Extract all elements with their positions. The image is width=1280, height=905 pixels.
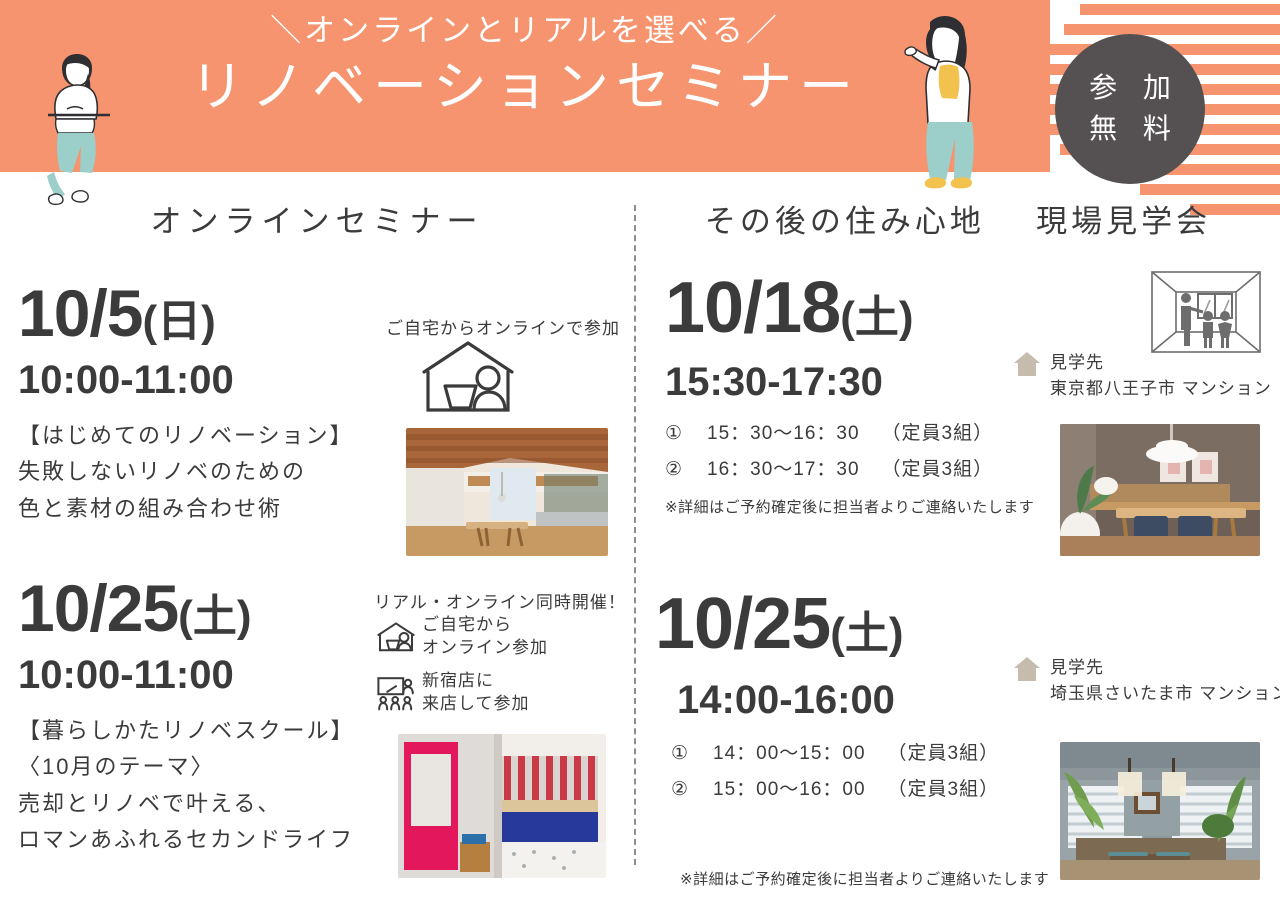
online-entry-2-photo bbox=[398, 734, 606, 878]
tour-entry-1-slot-1: ①15：30〜16：30（定員3組） bbox=[665, 416, 1034, 452]
house-icon bbox=[1012, 350, 1042, 378]
mode-store-line1: 新宿店に bbox=[422, 670, 530, 693]
venue-label: 見学先 bbox=[1050, 655, 1280, 681]
online-entry-1-topic-line2: 色と素材の組み合わせ術 bbox=[18, 491, 354, 527]
venue-value: 東京都八王子市 マンション bbox=[1050, 376, 1272, 402]
house-icon bbox=[1012, 655, 1042, 683]
online-entry-2-topic-line2: 売却とリノベで叶える、 bbox=[18, 786, 354, 822]
tour-entry-1-note: ※詳細はご予約確定後に担当者よりご連絡いたします bbox=[665, 496, 1034, 517]
slot-capacity: （定員3組） bbox=[882, 423, 994, 444]
tour-entry-2-slot-1: ①14：00〜15：00（定員3組） bbox=[671, 736, 999, 772]
tour-entry-2-venue: 見学先 埼玉県さいたま市 マンション bbox=[1012, 655, 1280, 706]
mode-online-line1: ご自宅から bbox=[422, 614, 548, 637]
online-entry-1-topic-title: 【はじめてのリノベーション】 bbox=[18, 418, 354, 454]
store-visit-icon bbox=[376, 673, 416, 713]
slot-capacity: （定員3組） bbox=[888, 779, 1000, 800]
free-participation-badge: 参 加 無 料 bbox=[1055, 34, 1205, 184]
online-entry-1-date: 10/5(日) bbox=[18, 280, 354, 346]
slot-number: ① bbox=[671, 736, 713, 772]
online-entry-2-topic-line1: 〈10月のテーマ〉 bbox=[18, 749, 354, 785]
badge-line-2: 無 料 bbox=[1080, 109, 1180, 150]
site-tour-column: その後の住み心地 現場見学会 bbox=[636, 196, 1280, 241]
column-divider bbox=[634, 205, 636, 865]
online-entry-1-photo bbox=[406, 428, 608, 556]
tour-entry-2-photo bbox=[1060, 742, 1260, 880]
tour-entry-1-venue: 見学先 東京都八王子市 マンション bbox=[1012, 350, 1272, 401]
day-of-week: (土) bbox=[840, 293, 913, 342]
date-text: 10/25 bbox=[655, 584, 830, 664]
slot-range: 15：30〜16：30 bbox=[707, 423, 860, 444]
slot-number: ② bbox=[671, 772, 713, 808]
right-column-heading: その後の住み心地 現場見学会 bbox=[636, 196, 1280, 241]
slot-range: 16：30〜17：30 bbox=[707, 459, 860, 480]
right-heading-a: その後の住み心地 bbox=[705, 204, 985, 239]
seminar-room-icon bbox=[1148, 268, 1264, 356]
tour-entry-1: 10/18(土) 15:30-17:30 ①15：30〜16：30（定員3組） … bbox=[665, 272, 1034, 517]
right-heading-b: 現場見学会 bbox=[1036, 204, 1211, 239]
tour-entry-2-note: ※詳細はご予約確定後に担当者よりご連絡いたします bbox=[680, 868, 1049, 889]
venue-label: 見学先 bbox=[1050, 350, 1272, 376]
day-of-week: (土) bbox=[830, 609, 903, 658]
day-of-week: (日) bbox=[142, 297, 215, 346]
slot-number: ② bbox=[665, 452, 707, 488]
mode-store-line2: 来店して参加 bbox=[422, 693, 530, 716]
tour-entry-1-slot-2: ②16：30〜17：30（定員3組） bbox=[665, 452, 1034, 488]
online-entry-2-date: 10/25(土) bbox=[18, 575, 354, 641]
mode-store-visit: 新宿店に 来店して参加 bbox=[376, 670, 548, 716]
badge-line-1: 参 加 bbox=[1080, 68, 1180, 109]
date-text: 10/18 bbox=[665, 268, 840, 348]
online-entry-1-time: 10:00-11:00 bbox=[18, 360, 354, 400]
date-text: 10/5 bbox=[18, 276, 142, 350]
online-entry-1-caption: ご自宅からオンラインで参加 bbox=[386, 314, 620, 339]
online-entry-2: 10/25(土) 10:00-11:00 【暮らしかたリノベスクール】 〈10月… bbox=[18, 575, 354, 858]
seminar-flyer: ＼オンラインとリアルを選べる／ リノベーションセミナー 参 加 無 料 オンライ… bbox=[0, 0, 1280, 905]
slot-number: ① bbox=[665, 416, 707, 452]
tour-entry-2: 10/25(土) 14:00-16:00 ①14：00〜15：00（定員3組） … bbox=[655, 588, 999, 808]
day-of-week: (土) bbox=[178, 592, 251, 641]
slot-range: 14：00〜15：00 bbox=[713, 743, 866, 764]
participation-modes: ご自宅から オンライン参加 新宿店に 来店して参加 bbox=[376, 614, 548, 716]
venue-value: 埼玉県さいたま市 マンション bbox=[1050, 681, 1280, 707]
tour-entry-2-date: 10/25(土) bbox=[655, 588, 999, 660]
slot-capacity: （定員3組） bbox=[888, 743, 1000, 764]
online-entry-2-caption: リアル・オンライン同時開催！ bbox=[374, 588, 626, 613]
home-online-icon bbox=[418, 338, 518, 416]
tour-entry-2-time: 14:00-16:00 bbox=[677, 680, 999, 720]
online-entry-1: 10/5(日) 10:00-11:00 【はじめてのリノベーション】 失敗しない… bbox=[18, 280, 354, 527]
mode-online-line2: オンライン参加 bbox=[422, 637, 548, 660]
date-text: 10/25 bbox=[18, 571, 178, 645]
illustration-pointing-woman bbox=[890, 12, 1010, 202]
online-entry-1-topic-line1: 失敗しないリノベのための bbox=[18, 454, 354, 490]
online-entry-2-topic-line3: ロマンあふれるセカンドライフ bbox=[18, 822, 354, 858]
slot-capacity: （定員3組） bbox=[882, 459, 994, 480]
header-text-block: ＼オンラインとリアルを選べる／ リノベーションセミナー bbox=[180, 14, 870, 122]
tour-entry-1-date: 10/18(土) bbox=[665, 272, 1034, 344]
tour-entry-2-slot-2: ②15：00〜16：00（定員3組） bbox=[671, 772, 999, 808]
online-entry-2-time: 10:00-11:00 bbox=[18, 655, 354, 695]
header-title: リノベーションセミナー bbox=[180, 54, 870, 122]
tour-entry-1-time: 15:30-17:30 bbox=[665, 362, 1034, 402]
illustration-seated-woman bbox=[32, 52, 124, 207]
tour-entry-1-photo bbox=[1060, 424, 1260, 556]
home-online-icon bbox=[376, 617, 416, 657]
online-entry-2-topic-title: 【暮らしかたリノベスクール】 bbox=[18, 713, 354, 749]
header-subtitle: ＼オンラインとリアルを選べる／ bbox=[180, 14, 870, 48]
mode-online: ご自宅から オンライン参加 bbox=[376, 614, 548, 660]
slot-range: 15：00〜16：00 bbox=[713, 779, 866, 800]
